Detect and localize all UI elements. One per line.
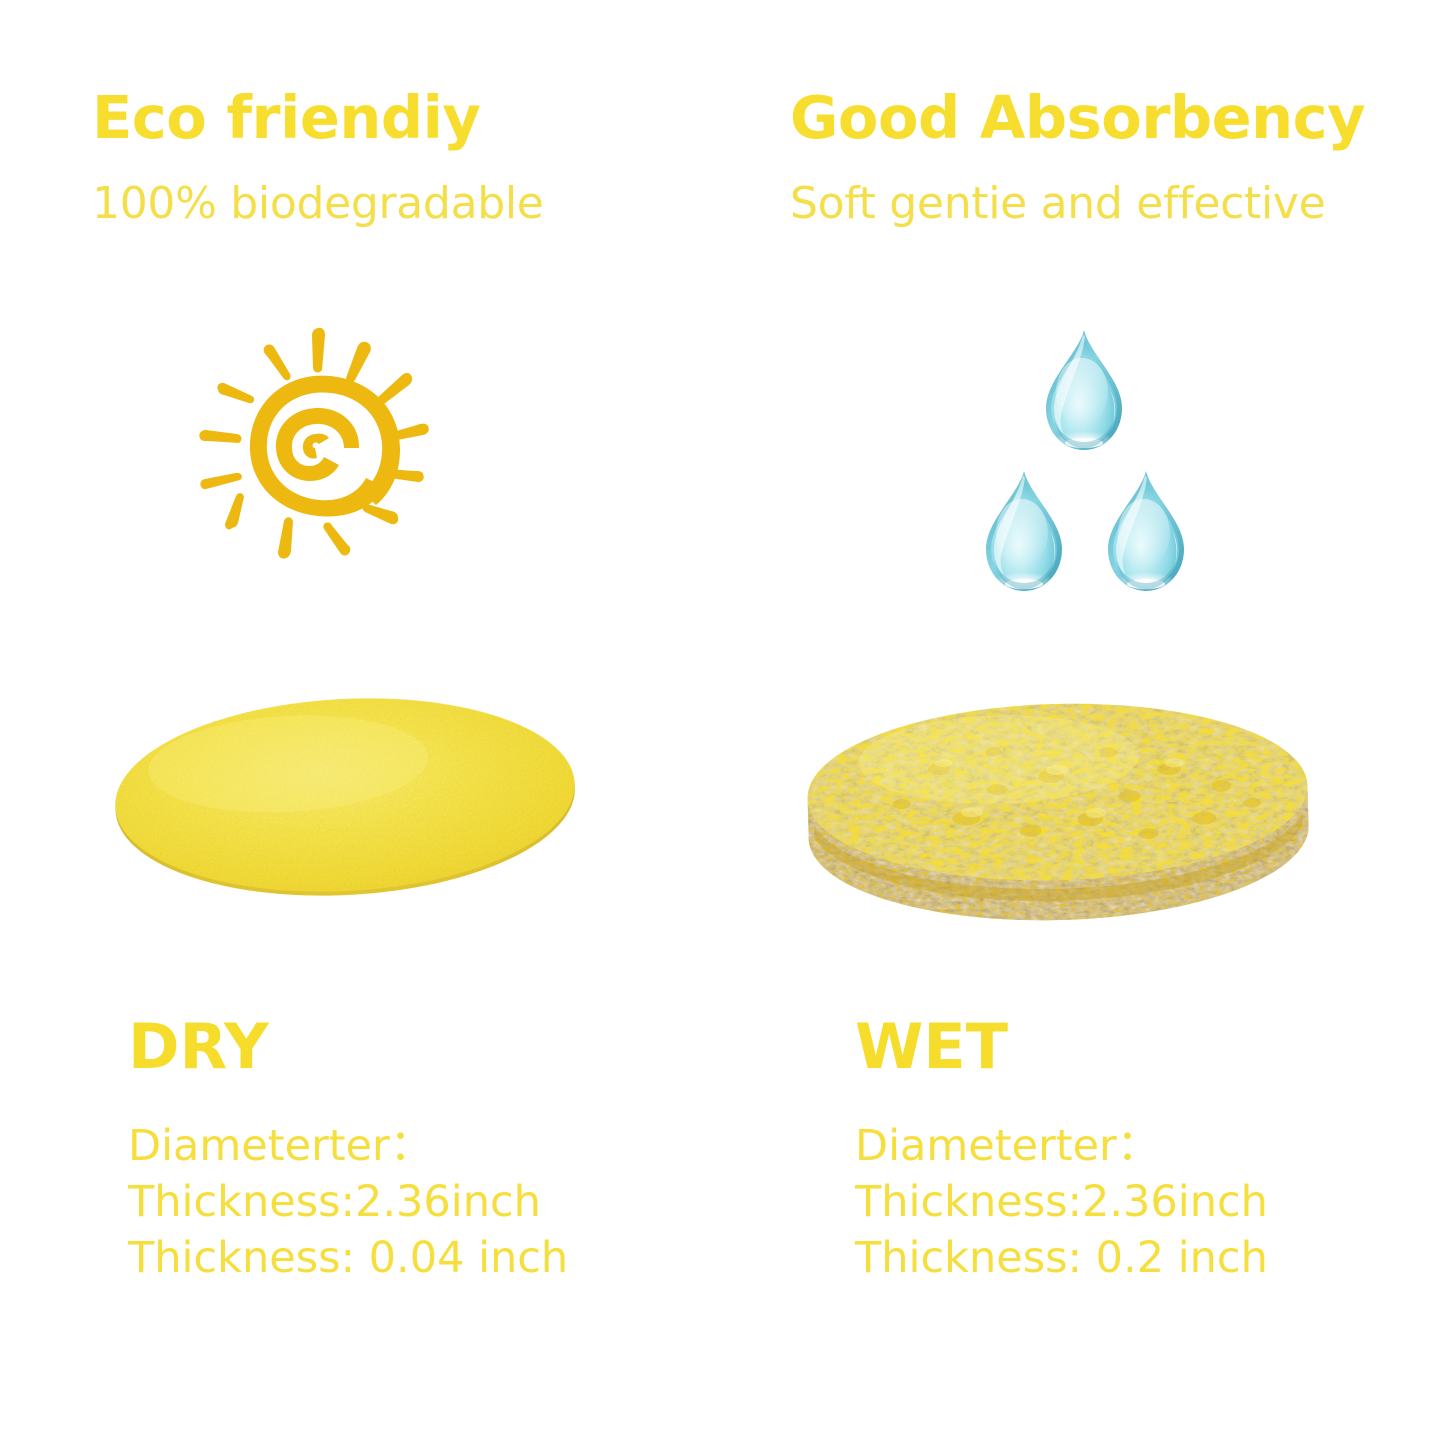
dry-sponge-disc	[95, 665, 595, 925]
specs-dry: Diameterter： Thickness:2.36inch Thicknes…	[128, 1118, 568, 1286]
spec-thickness-wet: Thickness: 0.2 inch	[855, 1230, 1268, 1286]
spec-thickness-dry: Thickness: 0.04 inch	[128, 1230, 568, 1286]
feature-subhead-good-absorbency: Soft gentie and effective	[790, 182, 1325, 226]
infographic-canvas: Eco friendiy 100% biodegradable	[0, 0, 1445, 1445]
state-label-dry: DRY	[128, 1016, 269, 1078]
droplet-bottom-left	[986, 471, 1062, 591]
state-label-wet: WET	[855, 1016, 1008, 1078]
wet-sponge-disc	[790, 680, 1330, 940]
feature-headline-eco-friendly: Eco friendiy	[92, 88, 480, 147]
spec-size-dry: Thickness:2.36inch	[128, 1174, 568, 1230]
spec-size-wet: Thickness:2.36inch	[855, 1174, 1268, 1230]
droplet-bottom-right	[1108, 471, 1184, 591]
sun-icon	[198, 322, 430, 560]
spec-diameter-wet: Diameterter：	[855, 1118, 1268, 1174]
droplet-top	[1046, 330, 1122, 450]
water-droplets-icon	[965, 325, 1205, 595]
feature-subhead-eco-friendly: 100% biodegradable	[92, 182, 544, 226]
specs-wet: Diameterter： Thickness:2.36inch Thicknes…	[855, 1118, 1268, 1286]
spec-diameter-dry: Diameterter：	[128, 1118, 568, 1174]
feature-headline-good-absorbency: Good Absorbency	[790, 88, 1365, 147]
